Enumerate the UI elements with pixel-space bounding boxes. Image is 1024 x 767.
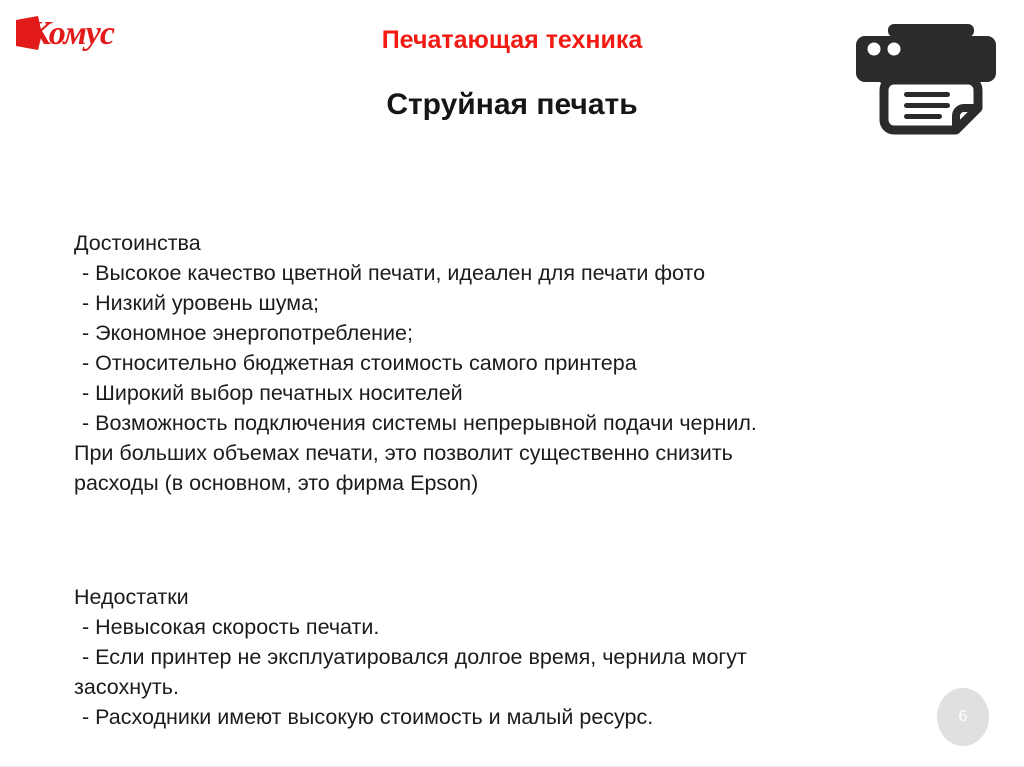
advantages-heading: Достоинства xyxy=(74,228,954,258)
list-item: - Широкий выбор печатных носителей xyxy=(74,378,954,408)
list-item: - Расходники имеют высокую стоимость и м… xyxy=(74,702,954,732)
list-item-continuation: засохнуть. xyxy=(74,672,954,702)
list-item: - Если принтер не эксплуатировался долго… xyxy=(74,642,954,672)
list-item: - Возможность подключения системы непрер… xyxy=(74,408,954,438)
slide: Комус Печатающая техника Струйная печать xyxy=(0,0,1024,767)
list-item: - Относительно бюджетная стоимость самог… xyxy=(74,348,954,378)
list-item: - Невысокая скорость печати. xyxy=(74,612,954,642)
printer-icon xyxy=(850,18,1002,140)
disadvantages-heading: Недостатки xyxy=(74,582,954,612)
list-item: - Высокое качество цветной печати, идеал… xyxy=(74,258,954,288)
page-number-badge: 6 xyxy=(937,688,989,746)
list-item: - Экономное энергопотребление; xyxy=(74,318,954,348)
advantages-block: Достоинства - Высокое качество цветной п… xyxy=(74,228,954,498)
section-spacer xyxy=(74,498,954,582)
disadvantages-block: Недостатки - Невысокая скорость печати. … xyxy=(74,582,954,732)
list-item: - Низкий уровень шума; xyxy=(74,288,954,318)
page-number-label: 6 xyxy=(959,709,968,725)
slide-body: Достоинства - Высокое качество цветной п… xyxy=(74,228,954,732)
list-item-continuation: При больших объемах печати, это позволит… xyxy=(74,438,954,468)
list-item-continuation: расходы (в основном, это фирма Epson) xyxy=(74,468,954,498)
